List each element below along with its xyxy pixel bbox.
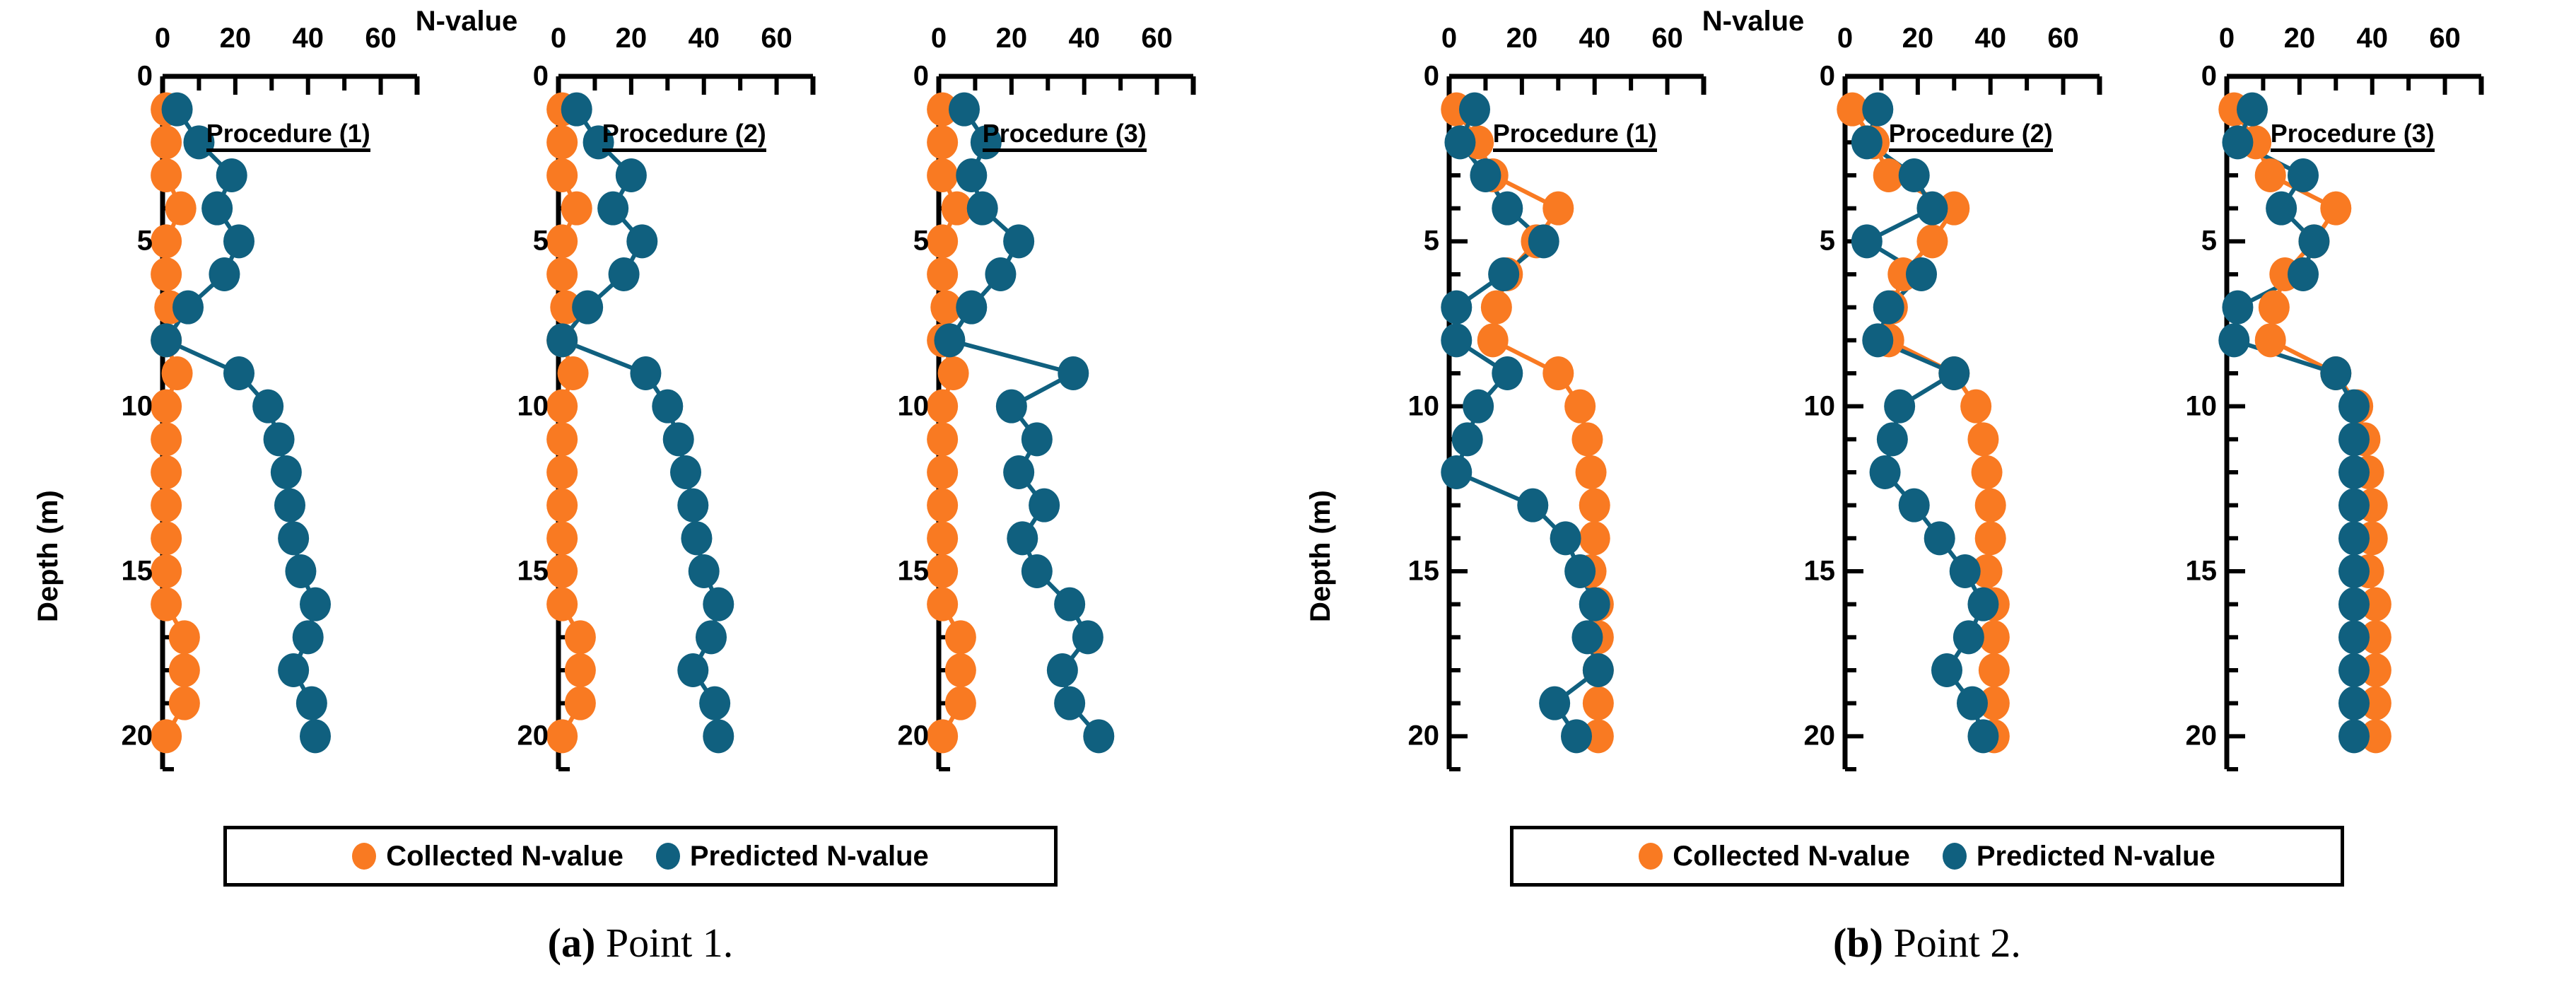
data-point-marker [2338,489,2370,522]
caption-b-text: Point 2. [1893,920,2021,966]
caption-a: (a) Point 1. [393,919,888,966]
data-point-marker [1579,588,1610,621]
data-point-marker [985,257,1016,291]
data-point-marker [1459,93,1490,127]
legend-predicted-label: Predicted N-value [1977,841,2215,872]
plot-svg-wrapper [1407,62,1746,812]
data-point-marker [2288,257,2319,291]
plot-svg-wrapper [896,62,1236,812]
data-point-marker [2218,323,2249,357]
x-tick-label: 0 [1837,23,1853,54]
data-point-marker [1542,192,1574,226]
x-tick-label: 40 [1579,23,1610,54]
legend-entry-predicted-a: Predicted N-value [656,841,929,872]
data-point-marker [2255,158,2286,192]
y-tick-label: 15 [1408,556,1450,588]
data-point-marker [1967,719,1998,753]
data-point-marker [2266,192,2297,226]
data-point-marker [967,192,998,226]
data-point-marker [546,257,578,291]
data-point-marker [1470,158,1501,192]
y-tick-label: 10 [898,390,939,422]
data-point-marker [1550,521,1581,555]
data-point-marker [151,489,182,522]
data-point-marker [546,158,578,192]
data-point-marker [927,125,958,159]
data-point-marker [1579,521,1610,555]
plot-area [1407,62,1746,812]
data-point-marker [209,257,240,291]
data-point-marker [677,653,708,687]
data-point-marker [1924,521,1955,555]
data-point-marker [1441,323,1472,357]
data-point-marker [1564,390,1596,423]
plot-area [516,62,855,812]
data-point-marker [1979,653,2010,687]
data-point-marker [2298,224,2329,258]
y-tick-label: 15 [122,556,163,588]
data-point-marker [2338,390,2370,423]
legend-collected-label: Collected N-value [1673,841,1910,872]
data-point-marker [169,620,200,654]
data-point-marker [1561,719,1592,753]
caption-b: (b) Point 2. [1680,919,2174,966]
x-tick-label: 60 [365,23,397,54]
data-point-marker [1960,390,1991,423]
data-point-marker [1571,620,1603,654]
data-point-marker [2222,291,2253,325]
data-point-marker [2338,653,2370,687]
data-point-marker [1003,455,1034,489]
plot-svg-wrapper [1803,62,2142,812]
procedure-label: Procedure (2) [602,121,766,152]
data-point-marker [1972,455,2003,489]
data-point-marker [1007,521,1038,555]
data-point-marker [703,719,734,753]
x-tick-label: 60 [1141,23,1173,54]
x-tick-labels: 0204060 [2184,23,2524,57]
data-point-marker [2288,158,2319,192]
data-point-marker [927,489,958,522]
data-point-marker [278,521,309,555]
data-point-marker [1571,422,1603,456]
procedure-label: Procedure (3) [2271,121,2435,152]
data-point-marker [2338,455,2370,489]
data-point-marker [546,422,578,456]
data-point-marker [626,224,657,258]
data-point-marker [1488,257,1519,291]
data-point-marker [1906,257,1937,291]
data-point-marker [996,390,1027,423]
data-point-marker [151,588,182,621]
data-point-marker [949,93,980,127]
y-tick-label: 10 [1408,390,1450,422]
data-point-marker [1953,620,1984,654]
data-point-marker [1463,390,1494,423]
caption-b-tag: (b) [1833,920,1883,966]
y-tick-label: 10 [1804,390,1846,422]
plot-svg-wrapper [120,62,459,812]
data-point-marker [1083,719,1114,753]
x-tick-label: 60 [2047,23,2079,54]
x-tick-label: 40 [1974,23,2006,54]
data-point-marker [264,422,295,456]
data-point-marker [278,653,309,687]
figure-root: N-value Depth (m) 020406005101520Procedu… [0,0,2576,999]
data-point-marker [271,455,302,489]
procedure-label: Procedure (3) [983,121,1147,152]
legend-collected-marker-icon [352,843,376,870]
y-tick-label: 5 [913,226,939,257]
panel-a1: 020406005101520Procedure (1) [120,62,459,812]
subfigure-b: N-value Depth (m) 020406005101520Procedu… [1280,0,2576,999]
data-point-marker [2320,356,2351,390]
data-point-marker [565,687,596,720]
data-point-marker [1870,455,1901,489]
data-point-marker [1950,554,1981,588]
x-tick-labels: 0204060 [896,23,1236,57]
y-tick-label: 15 [517,556,559,588]
data-point-marker [1517,489,1548,522]
data-point-marker [1021,554,1053,588]
data-point-marker [1873,291,1904,325]
legend-a: Collected N-value Predicted N-value [223,826,1058,887]
data-point-marker [1967,422,1998,456]
data-point-marker [151,125,182,159]
data-point-marker [300,719,331,753]
data-point-marker [934,323,965,357]
data-point-marker [546,323,578,357]
data-point-marker [927,455,958,489]
y-tick-label: 5 [1424,226,1449,257]
x-tick-label: 0 [2219,23,2235,54]
x-tick-label: 60 [2429,23,2461,54]
y-tick-label: 20 [517,720,559,752]
data-point-marker [293,620,324,654]
data-point-marker [296,687,327,720]
data-point-marker [151,323,182,357]
data-point-marker [1564,554,1596,588]
legend-collected-marker-icon [1639,843,1663,870]
data-point-marker [223,356,254,390]
data-point-marker [670,455,701,489]
data-point-marker [2338,719,2370,753]
data-point-marker [561,93,592,127]
data-point-marker [927,588,958,621]
data-point-marker [956,291,987,325]
data-point-marker [938,356,969,390]
x-tick-label: 0 [931,23,947,54]
data-point-marker [546,125,578,159]
data-point-marker [2255,323,2286,357]
data-point-marker [565,653,596,687]
y-tick-label: 0 [2201,61,2227,93]
y-tick-label: 15 [898,556,939,588]
y-tick-label: 0 [137,61,163,93]
data-point-marker [1975,521,2006,555]
data-point-marker [565,620,596,654]
x-tick-label: 0 [155,23,170,54]
data-point-marker [616,158,647,192]
data-point-marker [1452,422,1483,456]
data-point-marker [1542,356,1574,390]
y-tick-label: 15 [1804,556,1846,588]
y-tick-label: 20 [898,720,939,752]
data-point-marker [703,588,734,621]
data-point-marker [677,489,708,522]
data-point-marker [2237,93,2268,127]
x-tick-label: 20 [616,23,648,54]
x-tick-label: 40 [2356,23,2388,54]
panel-a3: 020406005101520Procedure (3) [896,62,1236,812]
data-point-marker [1899,489,1930,522]
data-point-marker [1899,158,1930,192]
data-point-marker [945,620,976,654]
data-point-marker [151,158,182,192]
x-tick-label: 60 [761,23,792,54]
y-tick-label: 5 [137,226,163,257]
x-tick-label: 60 [1651,23,1683,54]
data-point-marker [2338,521,2370,555]
data-point-marker [1583,653,1614,687]
data-point-marker [252,390,283,423]
data-point-marker [151,521,182,555]
plot-area [1803,62,2142,812]
data-point-marker [1583,687,1614,720]
y-tick-label: 5 [533,226,558,257]
x-tick-label: 0 [551,23,566,54]
data-point-marker [945,653,976,687]
data-point-marker [1957,687,1988,720]
data-point-marker [572,291,603,325]
legend-predicted-label: Predicted N-value [690,841,929,872]
data-point-marker [201,192,233,226]
data-point-marker [1579,489,1610,522]
data-point-marker [1539,687,1570,720]
data-point-marker [151,455,182,489]
panel-b3: 020406005101520Procedure (3) [2184,62,2524,812]
plot-svg-wrapper [516,62,855,812]
data-point-marker [1054,588,1085,621]
data-point-marker [696,620,727,654]
legend-entry-collected-a: Collected N-value [352,841,623,872]
data-point-marker [274,489,305,522]
data-point-marker [927,521,958,555]
data-point-marker [1576,455,1607,489]
subfigure-a: N-value Depth (m) 020406005101520Procedu… [0,0,1280,999]
data-point-marker [927,158,958,192]
data-point-marker [1492,192,1523,226]
y-tick-label: 0 [1820,61,1845,93]
data-point-marker [1528,224,1559,258]
y-tick-label: 10 [517,390,559,422]
y-tick-label: 10 [2186,390,2227,422]
data-point-marker [681,521,712,555]
data-point-marker [172,291,204,325]
legend-entry-collected-b: Collected N-value [1639,841,1910,872]
data-point-marker [597,192,628,226]
data-point-marker [285,554,316,588]
panel-b2: 020406005101520Procedure (2) [1803,62,2142,812]
y-tick-label: 10 [122,390,163,422]
caption-a-tag: (a) [548,920,596,966]
x-tick-label: 20 [996,23,1028,54]
data-point-marker [169,687,200,720]
data-point-marker [561,192,592,226]
plot-area [120,62,459,812]
data-point-marker [558,356,589,390]
data-point-marker [2338,588,2370,621]
data-point-marker [216,158,247,192]
plot-area [896,62,1236,812]
y-axis-title-b: Depth (m) [1305,490,1337,622]
data-point-marker [2338,422,2370,456]
caption-a-text: Point 1. [606,920,734,966]
y-tick-label: 0 [1424,61,1449,93]
x-tick-label: 40 [1068,23,1100,54]
x-tick-label: 20 [1506,23,1538,54]
y-tick-label: 20 [2186,720,2227,752]
data-point-marker [945,687,976,720]
data-point-marker [1916,224,1948,258]
data-point-marker [663,422,694,456]
x-tick-label: 20 [220,23,252,54]
data-point-marker [1003,224,1034,258]
x-tick-label: 20 [1902,23,1934,54]
data-point-marker [546,521,578,555]
x-tick-labels: 0204060 [516,23,855,57]
procedure-label: Procedure (1) [206,121,370,152]
data-point-marker [223,224,254,258]
data-point-marker [1481,291,1512,325]
data-point-marker [1877,422,1908,456]
y-axis-title-a: Depth (m) [33,490,64,622]
data-point-marker [1938,356,1969,390]
data-point-marker [1916,192,1948,226]
legend-collected-label: Collected N-value [386,841,623,872]
data-point-marker [1029,489,1060,522]
x-tick-labels: 0204060 [1407,23,1746,57]
data-point-marker [1862,323,1893,357]
data-point-marker [1021,422,1053,456]
data-point-marker [927,422,958,456]
data-point-marker [1931,653,1962,687]
y-tick-label: 20 [122,720,163,752]
data-point-marker [2222,125,2253,159]
y-tick-label: 5 [1820,226,1845,257]
y-tick-label: 15 [2186,556,2227,588]
x-tick-label: 40 [688,23,720,54]
data-point-marker [630,356,661,390]
data-point-marker [546,455,578,489]
data-point-marker [300,588,331,621]
data-point-marker [609,257,640,291]
data-point-marker [1072,620,1103,654]
data-point-marker [1975,489,2006,522]
data-point-marker [652,390,683,423]
data-point-marker [2320,192,2351,226]
data-point-marker [165,192,197,226]
legend-predicted-marker-icon [656,843,680,870]
x-tick-label: 0 [1441,23,1457,54]
data-point-marker [1058,356,1089,390]
data-point-marker [151,257,182,291]
data-point-marker [1967,588,1998,621]
y-tick-label: 20 [1804,720,1846,752]
panel-a2: 020406005101520Procedure (2) [516,62,855,812]
x-tick-label: 20 [2284,23,2316,54]
data-point-marker [2259,291,2290,325]
data-point-marker [1441,455,1472,489]
legend-b: Collected N-value Predicted N-value [1510,826,2344,887]
data-point-marker [699,687,730,720]
data-point-marker [1441,291,1472,325]
data-point-marker [546,489,578,522]
data-point-marker [1492,356,1523,390]
data-point-marker [1054,687,1085,720]
y-tick-label: 20 [1408,720,1450,752]
data-point-marker [162,93,193,127]
data-point-marker [1851,125,1883,159]
y-tick-label: 0 [913,61,939,93]
data-point-marker [1477,323,1509,357]
plot-svg-wrapper [2184,62,2524,812]
procedure-label: Procedure (1) [1493,121,1657,152]
y-tick-label: 0 [533,61,558,93]
panel-b1: 020406005101520Procedure (1) [1407,62,1746,812]
plot-area [2184,62,2524,812]
procedure-label: Procedure (2) [1889,121,2053,152]
x-tick-labels: 0204060 [120,23,459,57]
data-point-marker [1884,390,1915,423]
data-point-marker [927,257,958,291]
data-point-marker [956,158,987,192]
legend-entry-predicted-b: Predicted N-value [1943,841,2215,872]
data-point-marker [546,588,578,621]
data-point-marker [1851,224,1883,258]
data-point-marker [169,653,200,687]
x-tick-label: 40 [292,23,324,54]
x-tick-labels: 0204060 [1803,23,2142,57]
y-tick-label: 5 [2201,226,2227,257]
data-point-marker [2338,554,2370,588]
data-point-marker [1444,125,1475,159]
data-point-marker [1047,653,1078,687]
legend-predicted-marker-icon [1943,843,1967,870]
data-point-marker [2338,687,2370,720]
data-point-marker [162,356,193,390]
data-point-marker [689,554,720,588]
data-point-marker [151,422,182,456]
data-point-marker [2338,620,2370,654]
